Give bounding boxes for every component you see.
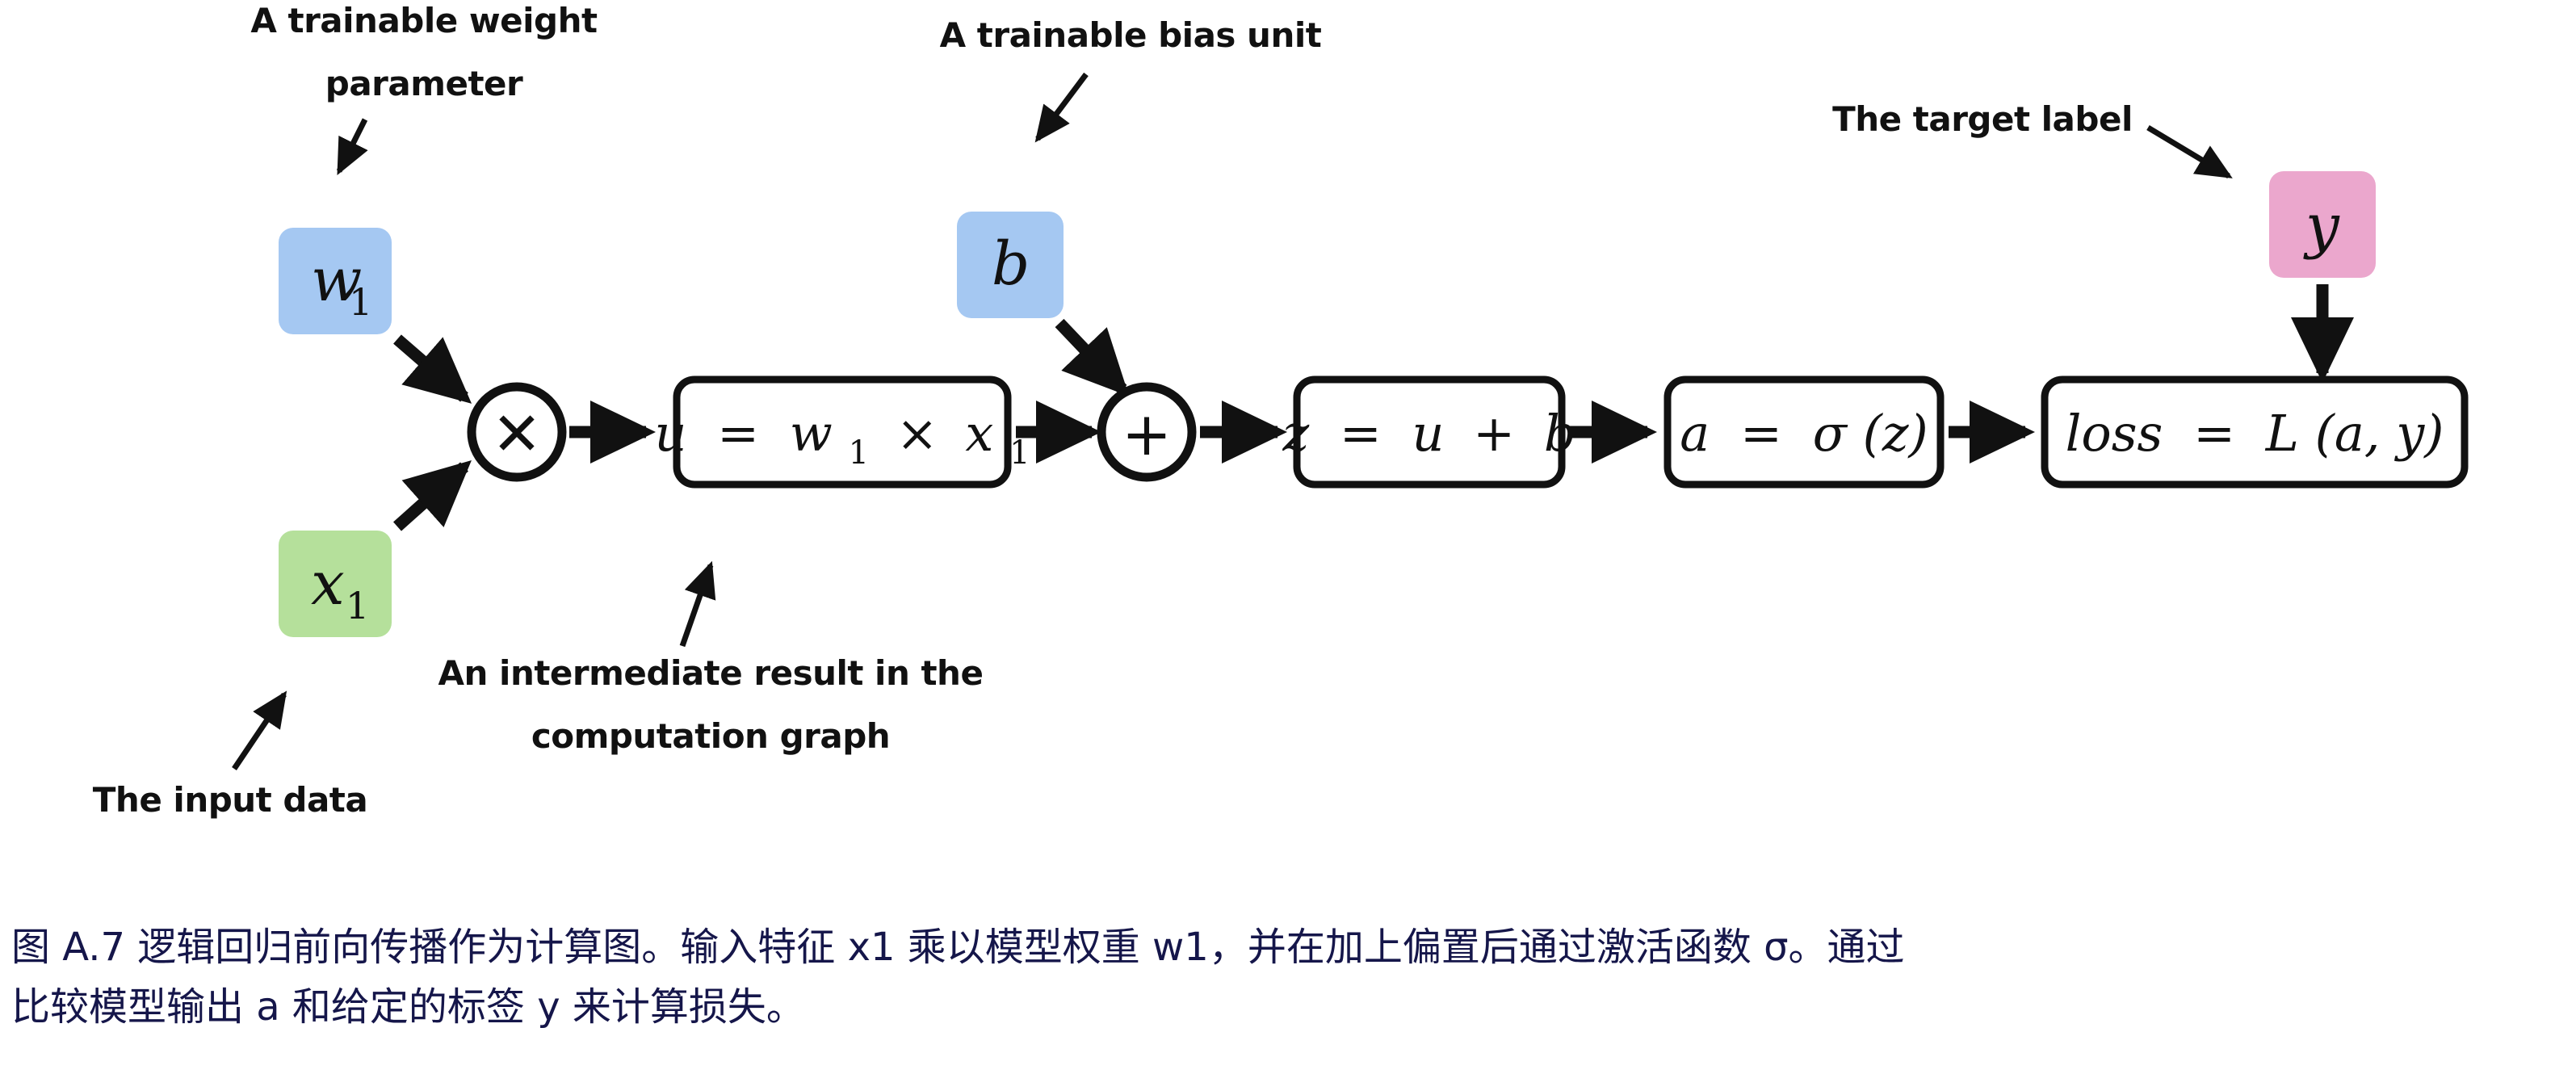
figure-root: A trainable weight parameter A trainable… [0,0,2576,1074]
input-data-annotation-arrow [234,694,284,769]
loss-box-eq: = [2193,404,2235,463]
operator-multiply[interactable]: ✕ [472,387,562,477]
edge-b-to-add [1059,323,1122,389]
u-box-operand-a-sub: 1 [849,434,869,472]
operator-add[interactable]: + [1101,387,1192,477]
figure-caption-line-2: 比较模型输出 a 和给定的标签 y 来计算损失。 [11,977,2539,1037]
z-box-operand-a: u [1412,404,1445,463]
activation-box-lhs: a [1680,404,1710,463]
target-label-annotation-arrow [2148,128,2229,176]
computation-graph: A trainable weight parameter A trainable… [0,0,2576,912]
z-box-lhs: z [1282,404,1309,463]
node-x1-subscript: 1 [346,584,369,627]
u-box-operand-b: x [965,404,993,463]
edge-x1-to-multiply [397,467,464,527]
input-data-annotation: The input data [93,694,367,820]
intermediate-annotation-arrow [682,565,711,646]
z-box[interactable]: z = u + b [1282,380,1575,485]
intermediate-annotation: An intermediate result in the computatio… [438,565,984,756]
node-x1-label: x [311,549,345,619]
figure-caption-line-1: 图 A.7 逻辑回归前向传播作为计算图。输入特征 x1 乘以模型权重 w1，并在… [11,917,2539,977]
node-b-label: b [992,229,1030,299]
activation-box-fn: σ [1813,404,1848,463]
node-b[interactable]: b [957,212,1064,318]
multiply-icon: ✕ [492,400,542,469]
weight-annotation-line-1: A trainable weight [250,1,598,40]
node-w1-subscript: 1 [349,280,372,324]
bias-annotation-arrow [1038,74,1086,139]
input-data-annotation-line-1: The input data [93,780,367,820]
loss-box[interactable]: loss = L (a, y) [2045,380,2465,485]
target-label-annotation: The target label [1832,99,2229,176]
z-box-op: + [1473,404,1515,463]
z-box-eq: = [1340,404,1382,463]
bias-annotation: A trainable bias unit [940,15,1322,139]
loss-box-lhs: loss [2066,404,2163,463]
u-box-eq: = [717,404,759,463]
target-label-annotation-line-1: The target label [1832,99,2133,139]
node-y-label: y [2303,191,2340,261]
activation-box[interactable]: a = σ (z) [1668,380,1940,485]
weight-annotation: A trainable weight parameter [250,1,598,171]
u-box-lhs: u [654,404,686,463]
u-box-operand-a: w [790,404,833,463]
node-w1[interactable]: w 1 [279,228,392,334]
loss-box-fn: L [2265,404,2299,463]
weight-annotation-arrow [339,120,365,171]
weight-annotation-line-2: parameter [325,64,523,103]
edge-w1-to-multiply [397,339,464,397]
bias-annotation-line-1: A trainable bias unit [940,15,1322,55]
intermediate-annotation-line-2: computation graph [531,716,890,756]
u-box-op: × [896,404,938,463]
intermediate-annotation-line-1: An intermediate result in the [438,653,984,693]
u-box-operand-b-sub: 1 [1009,434,1030,472]
figure-caption: 图 A.7 逻辑回归前向传播作为计算图。输入特征 x1 乘以模型权重 w1，并在… [11,917,2539,1038]
loss-box-arg: (a, y) [2315,404,2444,463]
u-box[interactable]: u = w 1 × x 1 [654,380,1030,485]
activation-box-arg: (z) [1863,404,1928,463]
node-y[interactable]: y [2269,171,2376,278]
activation-box-eq: = [1740,404,1782,463]
add-icon: + [1122,400,1172,469]
node-x1[interactable]: x 1 [279,531,392,637]
